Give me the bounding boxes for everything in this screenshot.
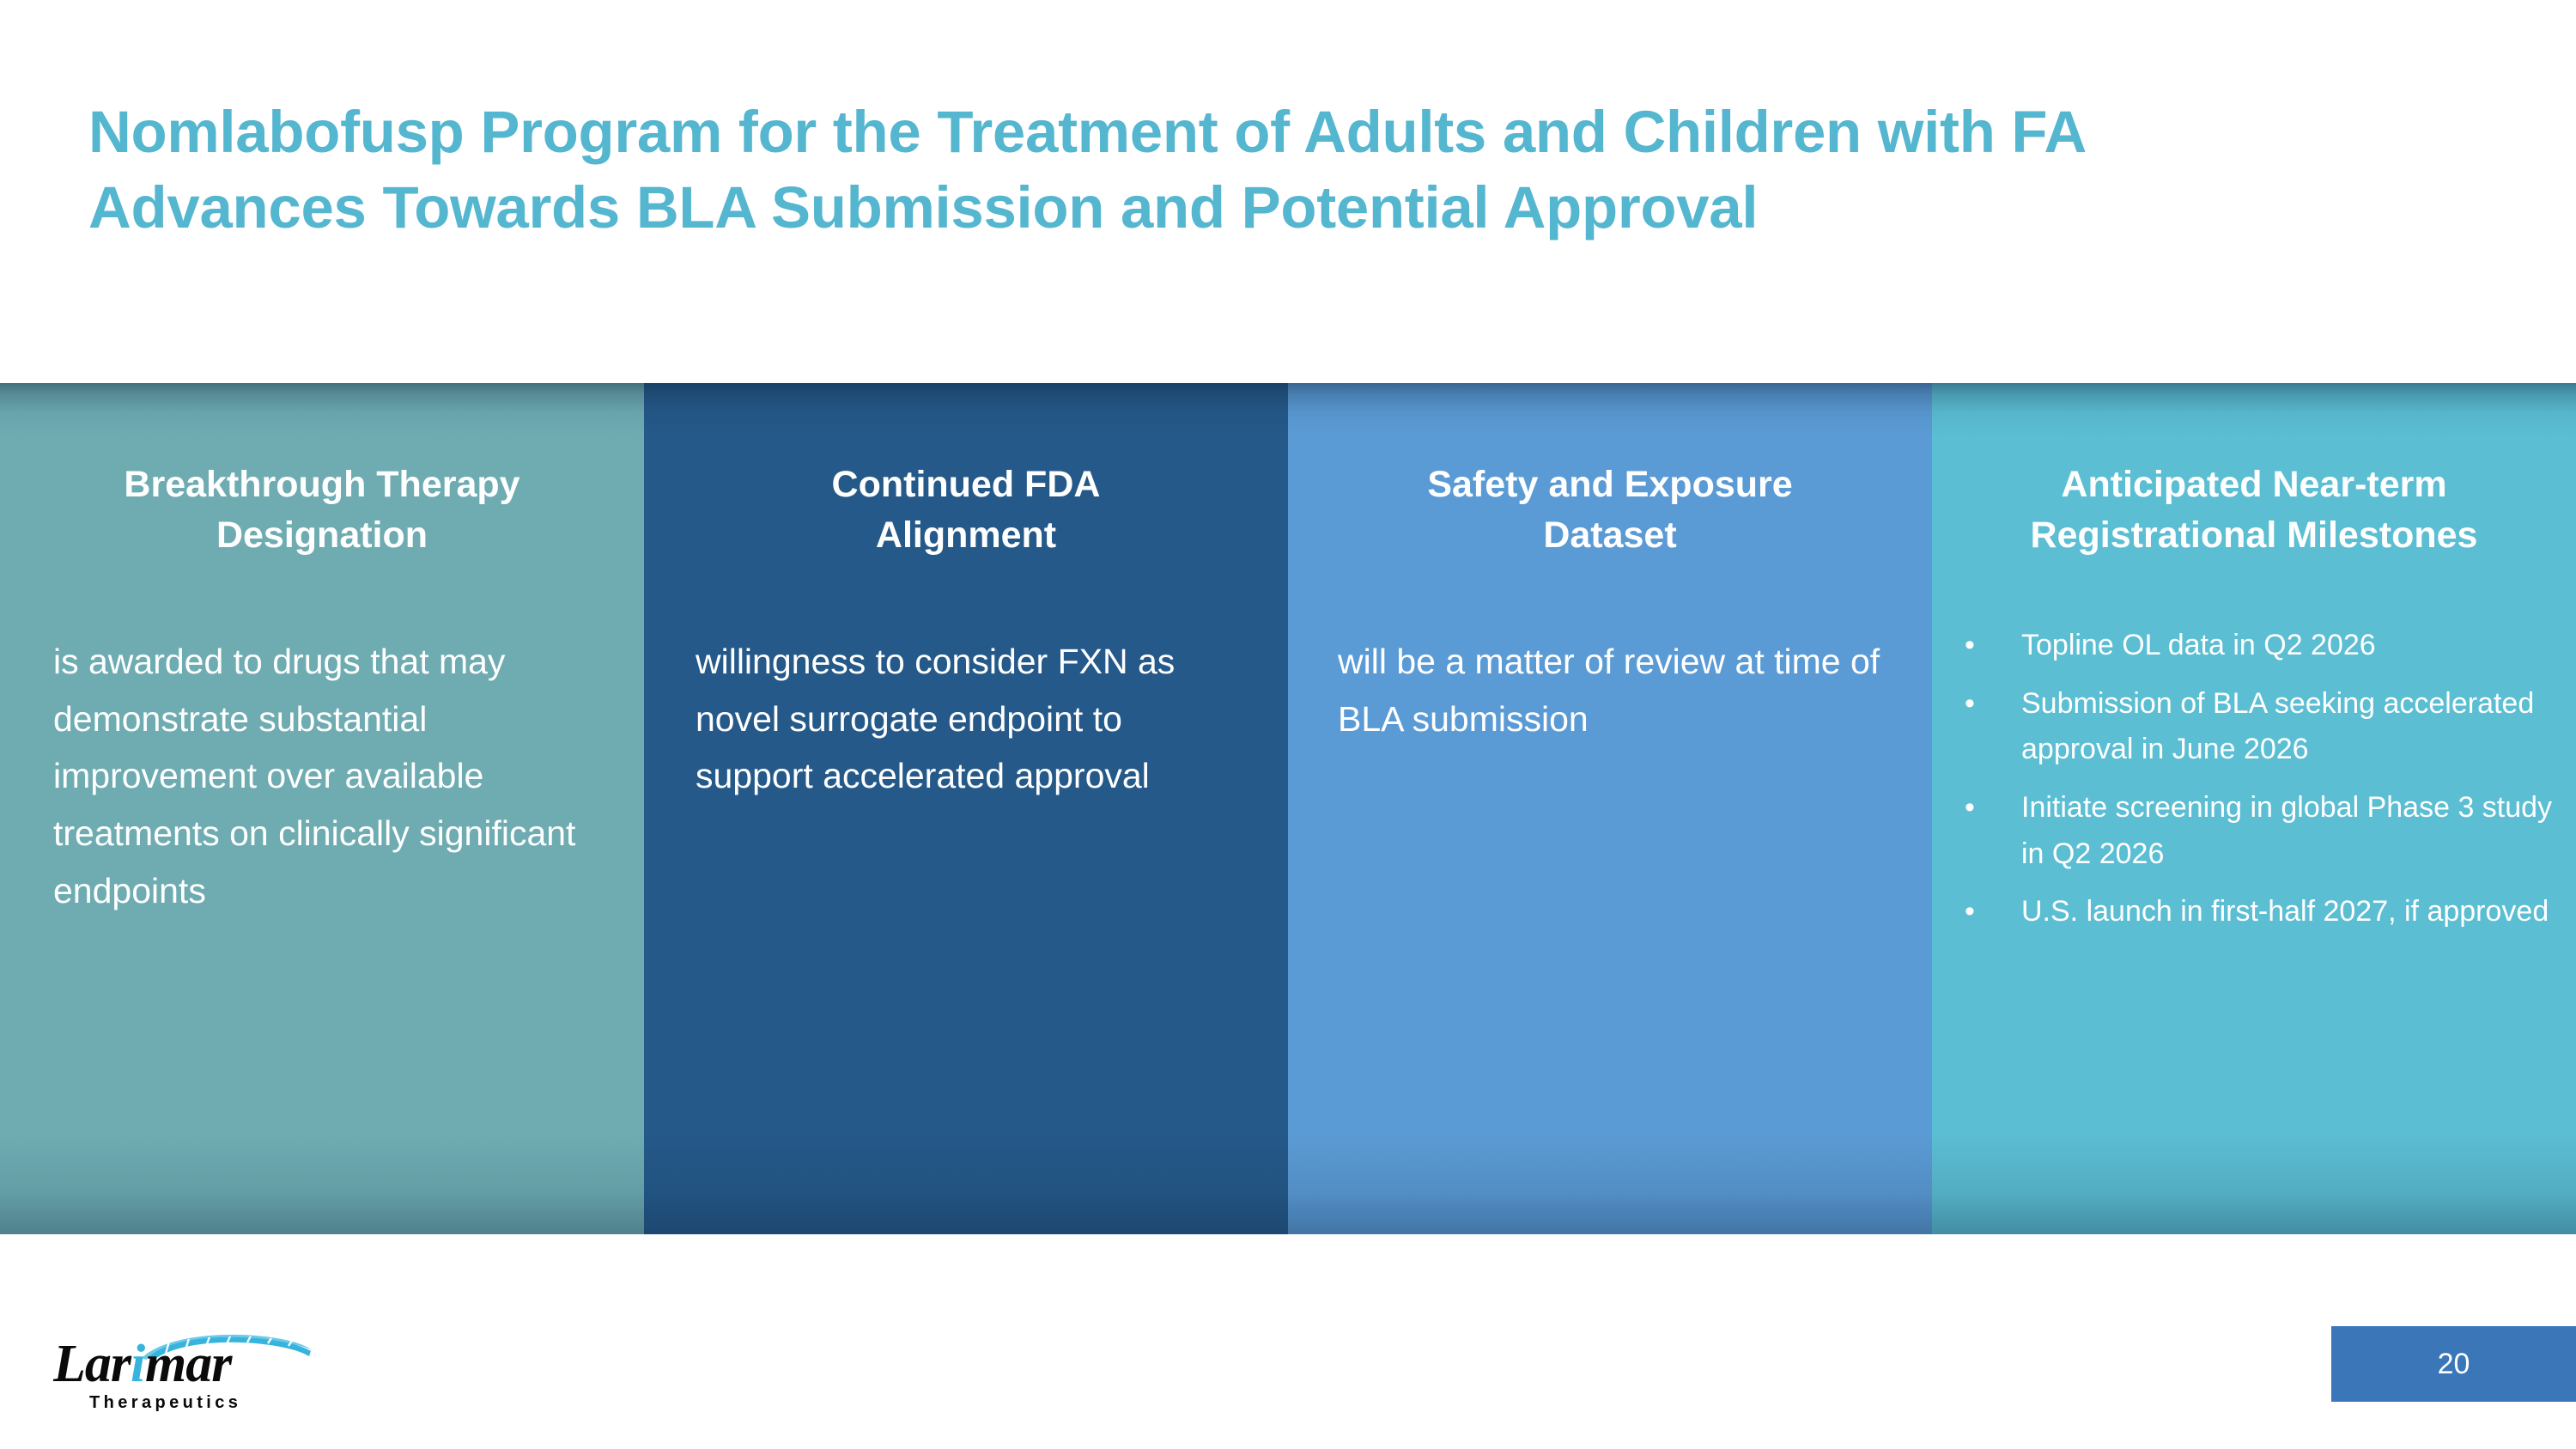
list-item-label: Initiate screening in global Phase 3 stu…: [2021, 785, 2557, 877]
four-column-band: Breakthrough Therapy Designation is awar…: [0, 383, 2576, 1234]
list-item: • Submission of BLA seeking accelerated …: [1956, 681, 2557, 773]
logo-tagline: Therapeutics: [89, 1393, 241, 1412]
bullet-icon: •: [1956, 623, 2021, 669]
page-number-badge: 20: [2331, 1326, 2576, 1402]
column-1-header: Breakthrough Therapy Designation: [47, 383, 597, 561]
page-title: Nomlabofusp Program for the Treatment of…: [88, 94, 2458, 247]
bullet-icon: •: [1956, 681, 2021, 728]
list-item: • Topline OL data in Q2 2026: [1956, 623, 2557, 669]
column-safety-and-exposure-dataset: Safety and Exposure Dataset will be a ma…: [1288, 383, 1932, 1234]
column-2-header-line-1: Continued FDA: [691, 460, 1241, 510]
column-1-header-line-2: Designation: [47, 510, 597, 561]
column-3-header: Safety and Exposure Dataset: [1335, 383, 1885, 561]
column-1-body-text: is awarded to drugs that may demonstrate…: [53, 633, 603, 920]
column-4-header-line-1: Anticipated Near-term: [1979, 460, 2529, 510]
column-3-body-text: will be a matter of review at time of BL…: [1338, 633, 1887, 748]
column-2-body-text: willingness to consider FXN as novel sur…: [696, 633, 1245, 805]
page-title-line-1: Nomlabofusp Program for the Treatment of…: [88, 94, 2458, 170]
column-2-header-line-2: Alignment: [691, 510, 1241, 561]
logo-wordmark-i: i: [131, 1335, 145, 1393]
logo-wordmark-tail: mar: [145, 1335, 233, 1393]
column-3-header-line-2: Dataset: [1335, 510, 1885, 561]
list-item-label: Submission of BLA seeking accelerated ap…: [2021, 681, 2557, 773]
column-anticipated-near-term-registrational-milestones: Anticipated Near-term Registrational Mil…: [1932, 383, 2576, 1234]
column-4-header: Anticipated Near-term Registrational Mil…: [1979, 383, 2529, 561]
column-breakthrough-therapy-designation: Breakthrough Therapy Designation is awar…: [0, 383, 644, 1234]
list-item-label: Topline OL data in Q2 2026: [2021, 623, 2557, 669]
logo-wordmark: Lar: [53, 1335, 132, 1393]
list-item: • Initiate screening in global Phase 3 s…: [1956, 785, 2557, 877]
column-1-header-line-1: Breakthrough Therapy: [47, 460, 597, 510]
bullet-icon: •: [1956, 889, 2021, 935]
larimar-therapeutics-logo: Lar i mar Therapeutics: [53, 1327, 337, 1417]
milestones-bullet-list: • Topline OL data in Q2 2026 • Submissio…: [1956, 623, 2557, 935]
column-3-header-line-1: Safety and Exposure: [1335, 460, 1885, 510]
page-title-line-2: Advances Towards BLA Submission and Pote…: [88, 170, 2458, 246]
list-item-label: U.S. launch in first-half 2027, if appro…: [2021, 889, 2557, 935]
column-4-header-line-2: Registrational Milestones: [1979, 510, 2529, 561]
list-item: • U.S. launch in first-half 2027, if app…: [1956, 889, 2557, 935]
slide-root: Nomlabofusp Program for the Treatment of…: [0, 0, 2576, 1449]
column-continued-fda-alignment: Continued FDA Alignment willingness to c…: [644, 383, 1288, 1234]
bullet-icon: •: [1956, 785, 2021, 831]
column-2-header: Continued FDA Alignment: [691, 383, 1241, 561]
